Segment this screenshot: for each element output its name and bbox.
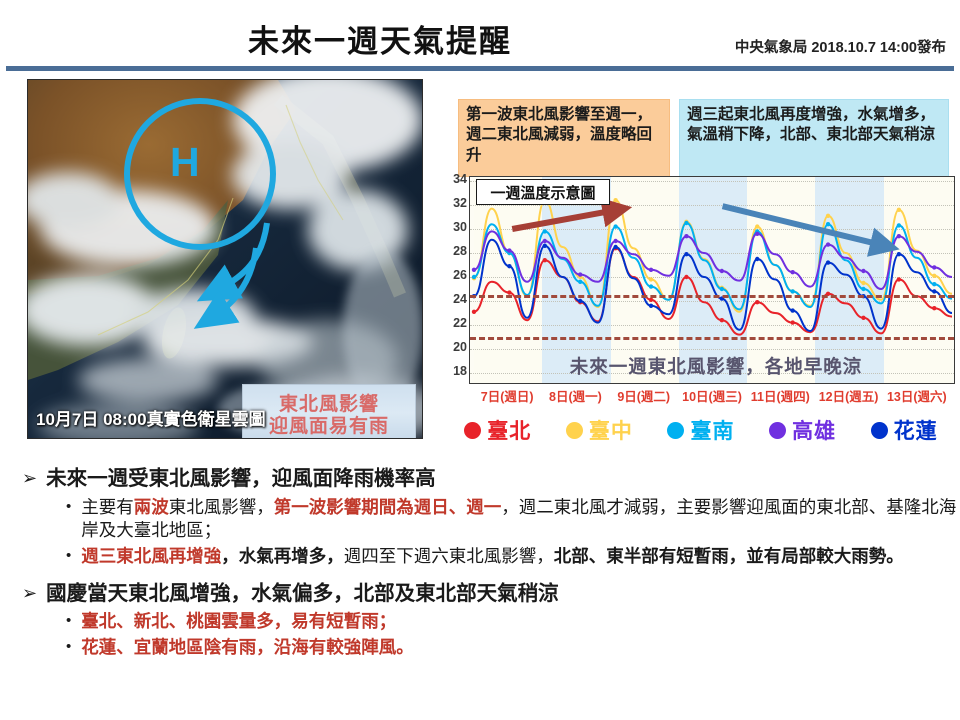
bullet-arrow-icon: ➢ (22, 466, 37, 490)
chart-data-point (613, 198, 617, 202)
callout-left-text: 第一波東北風影響至週一，週二東北風減弱，溫度略回升 (466, 106, 652, 164)
forecast-bullets: ➢未來一週受東北風影響，迎風面降雨機率高•主要有兩波東北風影響，第一波影響期間為… (0, 466, 960, 720)
chart-data-point (790, 289, 794, 293)
bullet-text: 國慶當天東北風增強，水氣偏多，北部及東北部天氣稍涼 (46, 581, 559, 607)
chart-data-point (755, 300, 759, 304)
chart-reference-line (470, 295, 954, 298)
chart-data-point (472, 275, 476, 279)
bullet-text: 主要有兩波東北風影響，第一波影響期間為週日、週一，週二東北風才減弱，主要影響迎風… (81, 496, 960, 543)
chart-data-point (613, 239, 617, 243)
chart-data-point (932, 282, 936, 286)
chart-y-tick: 26 (445, 268, 467, 282)
chart-data-point (826, 214, 830, 218)
chart-data-point (755, 224, 759, 228)
chart-data-point (861, 269, 865, 273)
chart-data-point (543, 229, 547, 233)
chart-data-point (649, 268, 653, 272)
chart-y-tick: 32 (445, 196, 467, 210)
chart-y-tick: 34 (445, 172, 467, 186)
legend-color-dot (464, 422, 481, 439)
chart-data-point (897, 277, 901, 281)
callout-second-wave: 週三起東北風再度增強，水氣增多，氣溫稍下降，北部、東北部天氣稍涼 (679, 99, 949, 177)
chart-data-point (826, 242, 830, 246)
bullet-text: 週三東北風再增強，水氣再增多，週四至下週六東北風影響，北部、東半部有短暫雨，並有… (81, 545, 904, 569)
legend-item-臺中[interactable]: 臺中 (566, 415, 633, 445)
chart-data-point (755, 232, 759, 236)
chart-data-point (861, 281, 865, 285)
chart-x-tick: 9日(週二) (617, 386, 670, 405)
bullet-text: 臺北、新北、桃園雲量多，易有短暫雨； (81, 610, 396, 634)
temperature-chart: 182022242628303234 一週溫度示意圖 未來一週東北風影響，各地早… (447, 176, 955, 388)
chart-data-point (897, 223, 901, 227)
chart-x-axis-labels: 7日(週日)8日(週一)9日(週二)10日(週三)11日(週四)12日(週五)1… (469, 386, 955, 406)
chart-data-point (613, 224, 617, 228)
bullet-secondary: •花蓮、宜蘭地區陰有雨，沿海有較強陣風。 (66, 636, 960, 660)
chart-data-point (861, 287, 865, 291)
legend-label: 花蓮 (894, 415, 938, 445)
chart-data-point (790, 308, 794, 312)
bullet-segment: 東北風影響， (169, 497, 274, 517)
chart-y-tick: 24 (445, 292, 467, 306)
legend-color-dot (566, 422, 583, 439)
bullet-primary: ➢國慶當天東北風增強，水氣偏多，北部及東北部天氣稍涼 (22, 581, 960, 607)
chart-annotation: 未來一週東北風影響，各地早晚涼 (496, 353, 936, 379)
legend-label: 臺北 (487, 415, 531, 445)
bullet-segment: 主要有 (81, 497, 134, 517)
chart-x-tick: 13日(週六) (887, 386, 947, 405)
chart-data-point (543, 239, 547, 243)
page-title: 未來一週天氣提醒 (0, 16, 760, 61)
chart-data-point (684, 275, 688, 279)
chart-data-point (543, 258, 547, 262)
chart-data-point (684, 252, 688, 256)
bullet-dot-icon: • (66, 610, 71, 633)
bullet-segment: ，水氣再增多， (221, 546, 344, 566)
satellite-caption-line-1: 東北風影響 (279, 394, 379, 416)
publish-info: 中央氣象局 2018.10.7 14:00發布 (735, 36, 946, 57)
bullet-segment: 花蓮、宜蘭地區陰有雨，沿海有較強陣風。 (81, 637, 414, 657)
chart-trend-arrow (723, 206, 886, 246)
chart-legend: 臺北臺中臺南高雄花蓮 (447, 414, 955, 446)
bullet-segment: 未來一週受東北風影響，迎風面降雨機率高 (46, 467, 436, 490)
chart-data-point (507, 248, 511, 252)
slide-header: 未來一週天氣提醒 中央氣象局 2018.10.7 14:00發布 (0, 0, 960, 72)
chart-y-axis: 182022242628303234 (447, 176, 467, 384)
chart-y-tick: 18 (445, 364, 467, 378)
bullet-arrow-icon: ➢ (22, 581, 37, 605)
legend-color-dot (871, 422, 888, 439)
chart-data-point (755, 257, 759, 261)
legend-item-臺北[interactable]: 臺北 (464, 415, 531, 445)
bullet-segment: 週四至下週六東北風影響， (344, 546, 554, 566)
chart-reference-line (470, 337, 954, 340)
bullet-secondary: •主要有兩波東北風影響，第一波影響期間為週日、週一，週二東北風才減弱，主要影響迎… (66, 496, 960, 543)
legend-color-dot (769, 422, 786, 439)
chart-y-tick: 22 (445, 316, 467, 330)
chart-y-tick: 28 (445, 244, 467, 258)
legend-label: 高雄 (792, 415, 836, 445)
bullet-segment: 臺北、新北、桃園雲量多，易有短暫雨； (81, 611, 396, 631)
chart-data-point (720, 287, 724, 291)
bullet-segment: 國慶當天東北風增強，水氣偏多，北部及東北部天氣稍涼 (46, 582, 559, 605)
legend-item-花蓮[interactable]: 花蓮 (871, 415, 938, 445)
chart-data-point (649, 277, 653, 281)
satellite-caption-box: 東北風影響 迎風面易有雨 (242, 384, 416, 439)
bullet-secondary: •臺北、新北、桃園雲量多，易有短暫雨； (66, 610, 960, 634)
chart-data-point (897, 208, 901, 212)
legend-color-dot (667, 422, 684, 439)
chart-data-point (790, 270, 794, 274)
chart-data-point (578, 272, 582, 276)
bullet-segment: 兩波 (134, 497, 169, 517)
chart-data-point (472, 310, 476, 314)
chart-data-point (613, 245, 617, 249)
chart-y-tick: 20 (445, 340, 467, 354)
legend-item-臺南[interactable]: 臺南 (667, 415, 734, 445)
chart-data-point (684, 221, 688, 225)
chart-data-point (684, 234, 688, 238)
chart-data-point (861, 316, 865, 320)
chart-data-point (897, 234, 901, 238)
chart-data-point (720, 269, 724, 273)
chart-data-point (790, 320, 794, 324)
chart-data-point (578, 280, 582, 284)
chart-data-point (649, 298, 653, 302)
bullet-secondary: •週三東北風再增強，水氣再增多，週四至下週六東北風影響，北部、東半部有短暫雨，並… (66, 545, 960, 569)
chart-data-point (932, 265, 936, 269)
chart-x-tick: 12日(週五) (819, 386, 879, 405)
chart-x-tick: 7日(週日) (481, 386, 534, 405)
chart-data-point (649, 304, 653, 308)
callout-first-wave: 第一波東北風影響至週一，週二東北風減弱，溫度略回升 (458, 99, 670, 177)
chart-data-point (932, 289, 936, 293)
chart-data-point (507, 264, 511, 268)
chart-data-point (826, 222, 830, 226)
header-divider (6, 66, 954, 71)
chart-data-point (649, 284, 653, 288)
chart-y-tick: 30 (445, 220, 467, 234)
chart-trend-arrow (512, 210, 617, 229)
satellite-timestamp-label: 10月7日 08:00真實色衛星雲圖 (36, 405, 266, 430)
chart-data-point (932, 274, 936, 278)
bullet-dot-icon: • (66, 545, 71, 568)
chart-data-point (578, 299, 582, 303)
chart-data-point (932, 306, 936, 310)
satellite-caption-line-2: 迎風面易有雨 (269, 416, 389, 438)
chart-data-point (826, 260, 830, 264)
callout-right-text: 週三起東北風再度增強，水氣增多，氣溫稍下降，北部、東北部天氣稍涼 (687, 106, 935, 143)
bullet-dot-icon: • (66, 636, 71, 659)
wind-arrow-1 (218, 223, 267, 290)
chart-data-point (720, 318, 724, 322)
satellite-image-panel: H 東北風影響 迎風面易有雨 10月7日 08:00真實色衛星雲圖 (27, 79, 423, 439)
bullet-dot-icon: • (66, 496, 71, 519)
bullet-segment: 北部、東半部有短暫雨，並有局部較大雨勢。 (554, 546, 904, 566)
legend-label: 臺南 (690, 415, 734, 445)
chart-x-tick: 10日(週三) (682, 386, 742, 405)
legend-item-高雄[interactable]: 高雄 (769, 415, 836, 445)
bullet-text: 花蓮、宜蘭地區陰有雨，沿海有較強陣風。 (81, 636, 414, 660)
chart-x-tick: 8日(週一) (549, 386, 602, 405)
chart-title: 一週溫度示意圖 (476, 179, 610, 205)
bullet-segment: 週三東北風再增強 (81, 546, 221, 566)
legend-label: 臺中 (589, 415, 633, 445)
chart-data-point (897, 252, 901, 256)
chart-series-line (474, 240, 952, 331)
chart-data-point (472, 268, 476, 272)
bullet-primary: ➢未來一週受東北風影響，迎風面降雨機率高 (22, 466, 960, 492)
chart-x-tick: 11日(週四) (751, 386, 810, 405)
bullet-text: 未來一週受東北風影響，迎風面降雨機率高 (46, 466, 436, 492)
chart-plot-area: 一週溫度示意圖 未來一週東北風影響，各地早晚涼 (469, 176, 955, 384)
bullet-segment: 第一波影響期間為週日、週一 (274, 497, 502, 517)
chart-data-point (543, 244, 547, 248)
